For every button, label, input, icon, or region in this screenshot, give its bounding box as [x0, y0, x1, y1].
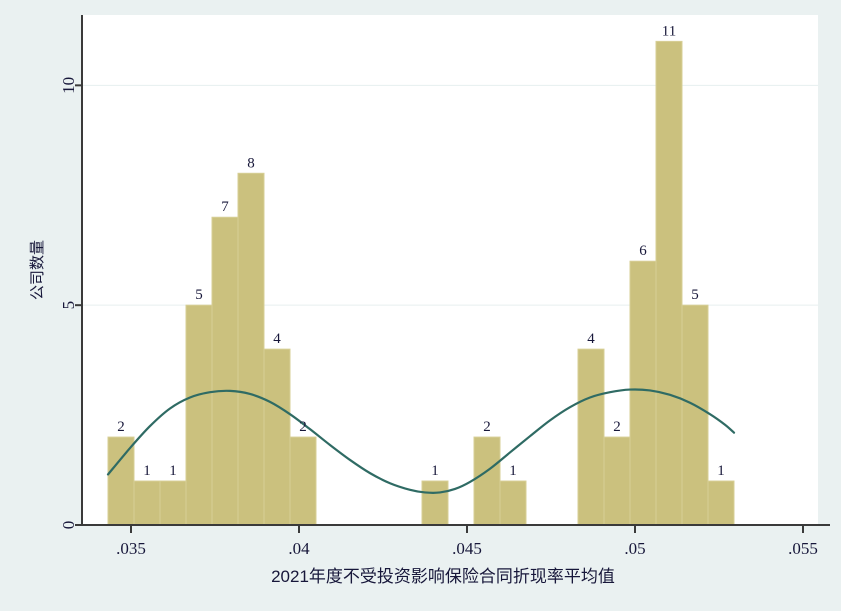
x-tick-label: .04 [288, 539, 310, 558]
y-axis-title: 公司数量 [29, 240, 46, 300]
x-axis-title: 2021年度不受投资影响保险合同折现率平均值 [271, 567, 615, 586]
histogram-plot-area: 2115784212142611510510.035.04.045.05.055… [0, 0, 841, 611]
bar-value-label: 5 [195, 287, 203, 303]
bar-value-label: 6 [639, 243, 647, 259]
bar-value-label: 8 [247, 155, 255, 171]
bar-value-label: 2 [483, 419, 491, 435]
bar-value-label: 5 [691, 287, 699, 303]
histogram-bar [264, 349, 290, 525]
x-tick-label: .045 [452, 539, 482, 558]
bar-value-label: 1 [143, 463, 151, 479]
bar-value-label: 4 [587, 331, 595, 347]
bar-value-label: 11 [662, 23, 676, 39]
y-tick-label: 0 [59, 521, 78, 530]
histogram-bar [500, 481, 526, 525]
bar-value-label: 7 [221, 199, 229, 215]
histogram-bar [108, 437, 134, 525]
bar-value-label: 2 [117, 419, 125, 435]
histogram-bar [682, 305, 708, 525]
x-tick-label: .035 [116, 539, 146, 558]
histogram-bar [238, 173, 264, 525]
bar-value-label: 4 [273, 331, 281, 347]
x-tick-label: .05 [624, 539, 645, 558]
x-tick-label: .055 [788, 539, 818, 558]
histogram-bar [422, 481, 448, 525]
histogram-bar [186, 305, 212, 525]
y-tick-label: 10 [59, 77, 78, 94]
chart-figure: 2115784212142611510510.035.04.045.05.055… [0, 0, 841, 611]
histogram-svg: 2115784212142611510510.035.04.045.05.055… [0, 0, 841, 611]
histogram-bar [604, 437, 630, 525]
histogram-bar [656, 41, 682, 525]
bar-value-label: 2 [613, 419, 621, 435]
histogram-bar [474, 437, 500, 525]
bar-value-label: 1 [509, 463, 517, 479]
histogram-bar [212, 217, 238, 525]
bar-value-label: 1 [169, 463, 177, 479]
y-tick-label: 5 [59, 301, 78, 310]
histogram-bar [630, 261, 656, 525]
bar-value-label: 2 [299, 419, 307, 435]
bar-value-label: 1 [717, 463, 725, 479]
bar-value-label: 1 [431, 463, 439, 479]
histogram-bar [290, 437, 316, 525]
histogram-bar [578, 349, 604, 525]
histogram-bar [160, 481, 186, 525]
histogram-bar [134, 481, 160, 525]
histogram-bar [708, 481, 734, 525]
